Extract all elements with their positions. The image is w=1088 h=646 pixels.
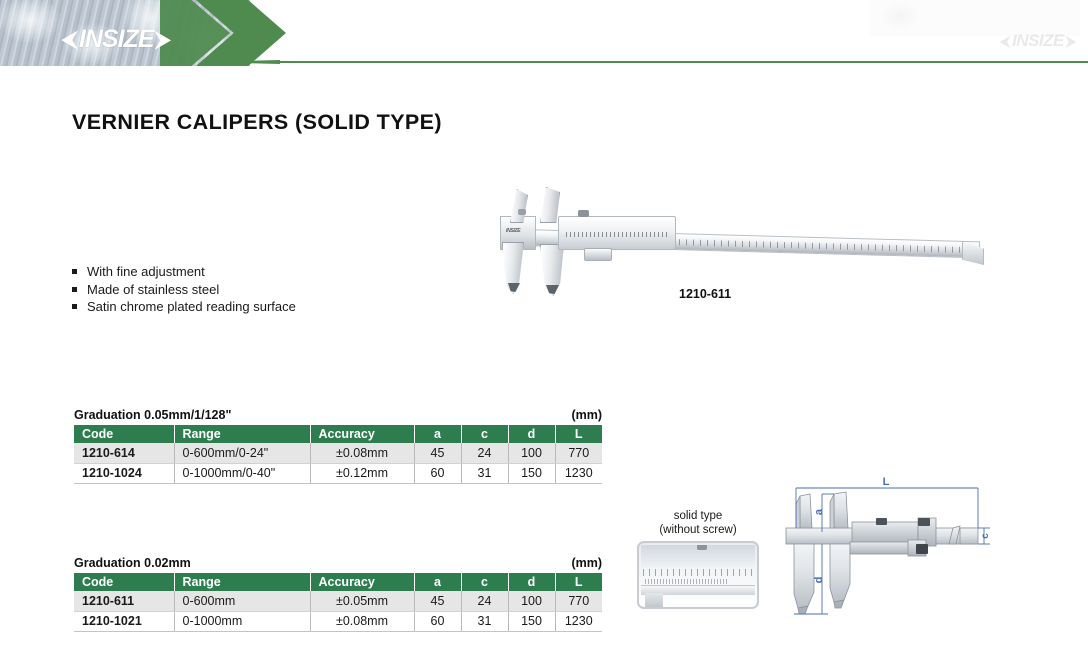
cell-accuracy: ±0.08mm [310,443,414,463]
watermark-arrow-left-icon: ⮜ [1000,34,1010,48]
caliper-vernier-scale [566,232,670,237]
table-header-row: Code Range Accuracy a c d L [74,573,602,591]
feature-text: Satin chrome plated reading surface [87,299,296,314]
column-header-accuracy: Accuracy [310,425,414,443]
inset-photo-without-screw [637,541,759,609]
caliper-secondary-screw [518,209,526,215]
inset-caption: solid type (without screw) [622,509,774,537]
cell-c: 31 [461,463,508,483]
cell-c: 24 [461,591,508,611]
dimension-label-d: d [813,577,825,584]
cell-accuracy: ±0.08mm [310,611,414,631]
list-item: Satin chrome plated reading surface [72,298,296,316]
inset-main-scale [643,569,753,576]
cell-range: 0-600mm/0-24" [174,443,310,463]
table-row: 1210-1024 0-1000mm/0-40" ±0.12mm 60 31 1… [74,463,602,483]
column-header-accuracy: Accuracy [310,573,414,591]
list-item: Made of stainless steel [72,281,296,299]
cell-code: 1210-611 [74,591,174,611]
cell-l: 1230 [555,611,602,631]
dimension-label-a: a [813,508,825,515]
column-header-c: c [461,573,508,591]
header-green-rule [248,61,1088,63]
caliper-fine-adjustment [584,248,612,261]
page-header-banner: ⮜ INSIZE ⮞ ⮜ INSIZE ⮞ [0,0,1088,68]
cell-d: 150 [508,463,555,483]
table-unit-label: (mm) [571,408,602,422]
cell-d: 100 [508,591,555,611]
cell-range: 0-1000mm [174,611,310,631]
product-photo-vernier-caliper: INSIZE [500,186,980,296]
insize-logo-watermark: ⮜ INSIZE ⮞ [1000,32,1076,49]
table-caption-row: Graduation 0.05mm/1/128" (mm) [74,408,602,422]
cell-range: 0-1000mm/0-40" [174,463,310,483]
cell-code: 1210-1024 [74,463,174,483]
spec-table-block-graduation-002: Graduation 0.02mm (mm) Code Range Accura… [74,556,602,632]
caliper-lock-screw [578,210,589,217]
insize-logo: ⮜ INSIZE ⮞ [62,27,171,52]
table-row: 1210-614 0-600mm/0-24" ±0.08mm 45 24 100… [74,443,602,463]
column-header-l: L [555,573,602,591]
feature-list: With fine adjustment Made of stainless s… [72,263,296,316]
cell-range: 0-600mm [174,591,310,611]
cell-a: 45 [414,591,461,611]
spec-table-block-graduation-005: Graduation 0.05mm/1/128" (mm) Code Range… [74,408,602,484]
inset-jaw [645,593,663,609]
spec-table: Code Range Accuracy a c d L 1210-614 0-6… [74,425,602,484]
table-header-row: Code Range Accuracy a c d L [74,425,602,443]
caliper-jaw-tip-fixed [508,283,520,292]
cell-l: 1230 [555,463,602,483]
page-title: VERNIER CALIPERS (SOLID TYPE) [72,110,442,135]
product-code-caption: 1210-611 [679,287,731,301]
cell-a: 60 [414,611,461,631]
square-bullet-icon [72,304,77,309]
table-caption: Graduation 0.02mm [74,556,191,570]
column-header-c: c [461,425,508,443]
dimension-label-c: c [980,533,991,539]
table-row: 1210-611 0-600mm ±0.05mm 45 24 100 770 [74,591,602,611]
square-bullet-icon [72,287,77,292]
column-header-a: a [414,425,461,443]
inset-vernier-scale [645,579,727,584]
cell-d: 150 [508,611,555,631]
column-header-range: Range [174,573,310,591]
column-header-l: L [555,425,602,443]
cell-l: 770 [555,591,602,611]
column-header-d: d [508,573,555,591]
logo-wordmark: INSIZE [79,27,154,52]
cell-l: 770 [555,443,602,463]
technical-dimension-drawing: L a c d [778,474,1078,630]
list-item: With fine adjustment [72,263,296,281]
cell-d: 100 [508,443,555,463]
square-bullet-icon [72,269,77,274]
inset-caption-line2: (without screw) [622,523,774,537]
inset-screw-position-marker [697,545,707,550]
table-caption-row: Graduation 0.02mm (mm) [74,556,602,570]
logo-arrow-left-icon: ⮜ [62,29,77,50]
caliper-jaw-tip-sliding [546,285,559,294]
logo-arrow-right-icon: ⮞ [156,29,171,50]
cell-code: 1210-614 [74,443,174,463]
caliper-brand-mark: INSIZE [506,228,520,234]
feature-text: With fine adjustment [87,264,205,279]
cell-accuracy: ±0.12mm [310,463,414,483]
table-row: 1210-1021 0-1000mm ±0.08mm 60 31 150 123… [74,611,602,631]
column-header-code: Code [74,425,174,443]
feature-text: Made of stainless steel [87,282,219,297]
column-header-d: d [508,425,555,443]
cell-a: 60 [414,463,461,483]
column-header-a: a [414,573,461,591]
spec-table: Code Range Accuracy a c d L 1210-611 0-6… [74,573,602,632]
table-caption: Graduation 0.05mm/1/128" [74,408,231,422]
solid-type-inset: solid type (without screw) [622,509,774,609]
watermark-arrow-right-icon: ⮞ [1066,34,1076,48]
caliper-upper-jaw-sliding [540,187,560,223]
table-unit-label: (mm) [571,556,602,570]
column-header-code: Code [74,573,174,591]
cell-a: 45 [414,443,461,463]
cell-c: 31 [461,611,508,631]
cell-accuracy: ±0.05mm [310,591,414,611]
dimension-label-L: L [883,476,890,488]
cell-code: 1210-1021 [74,611,174,631]
watermark-wordmark: INSIZE [1012,32,1064,49]
column-header-range: Range [174,425,310,443]
cell-c: 24 [461,443,508,463]
inset-caption-line1: solid type [622,509,774,523]
